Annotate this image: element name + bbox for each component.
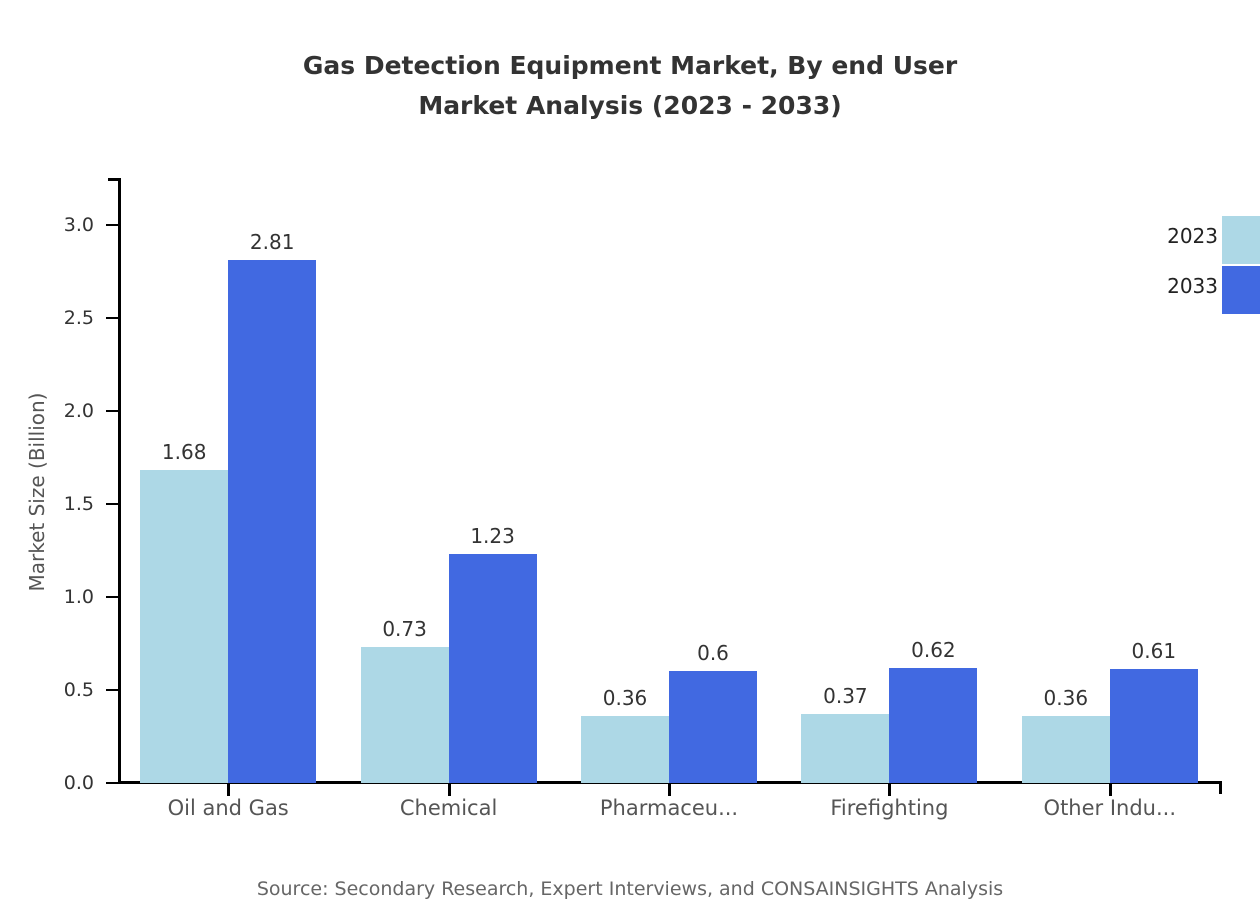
y-axis-tick-label: 3.0 bbox=[24, 214, 94, 236]
y-axis-tick-label: 2.0 bbox=[24, 400, 94, 422]
chart-title: Gas Detection Equipment Market, By end U… bbox=[0, 46, 1260, 126]
x-axis-category-label: Pharmaceu... bbox=[549, 796, 789, 820]
x-axis-tick bbox=[227, 783, 230, 796]
bar-2023[interactable] bbox=[801, 714, 889, 783]
legend-item-2023[interactable]: 2023 bbox=[1136, 222, 1260, 272]
legend-item-2033[interactable]: 2033 bbox=[1136, 272, 1260, 322]
bar-value-label: 0.73 bbox=[345, 617, 465, 641]
bar-value-label: 0.36 bbox=[565, 686, 685, 710]
bar-2023[interactable] bbox=[581, 716, 669, 783]
bar-value-label: 0.37 bbox=[785, 684, 905, 708]
bar-value-label: 0.61 bbox=[1094, 639, 1214, 663]
bar-2023[interactable] bbox=[1022, 716, 1110, 783]
legend-color-swatch bbox=[1222, 216, 1260, 264]
y-axis-tick-label: 0.0 bbox=[24, 772, 94, 794]
chart-title-line-1: Gas Detection Equipment Market, By end U… bbox=[0, 46, 1260, 86]
chart-legend: 20232033 bbox=[1136, 222, 1260, 322]
y-axis-tick-label: 1.5 bbox=[24, 493, 94, 515]
bar-2033[interactable] bbox=[228, 260, 316, 783]
x-axis-tick bbox=[888, 783, 891, 796]
bar-2033[interactable] bbox=[889, 668, 977, 783]
source-note: Source: Secondary Research, Expert Inter… bbox=[0, 878, 1260, 900]
bar-value-label: 1.68 bbox=[124, 440, 244, 464]
y-axis-tick-label: 1.0 bbox=[24, 586, 94, 608]
bar-2023[interactable] bbox=[361, 647, 449, 783]
bar-2033[interactable] bbox=[669, 671, 757, 783]
bar-value-label: 0.36 bbox=[1006, 686, 1126, 710]
x-axis-tick bbox=[1109, 783, 1112, 796]
bar-2023[interactable] bbox=[140, 470, 228, 783]
bar-2033[interactable] bbox=[1110, 669, 1198, 783]
legend-label: 2023 bbox=[1136, 224, 1218, 248]
legend-color-swatch bbox=[1222, 266, 1260, 314]
x-axis-tick bbox=[448, 783, 451, 796]
y-axis-tick-label: 0.5 bbox=[24, 679, 94, 701]
bar-value-label: 2.81 bbox=[212, 230, 332, 254]
x-axis-category-label: Other Indu... bbox=[990, 796, 1230, 820]
bar-value-label: 1.23 bbox=[433, 524, 553, 548]
bar-2033[interactable] bbox=[449, 554, 537, 783]
bar-value-label: 0.6 bbox=[653, 641, 773, 665]
legend-label: 2033 bbox=[1136, 274, 1218, 298]
chart-title-line-2: Market Analysis (2023 - 2033) bbox=[0, 86, 1260, 126]
x-axis-category-label: Firefighting bbox=[769, 796, 1009, 820]
bar-value-label: 0.62 bbox=[873, 638, 993, 662]
x-axis-category-label: Oil and Gas bbox=[108, 796, 348, 820]
plot-area: 1.682.810.731.230.360.60.370.620.360.61 bbox=[118, 178, 1220, 783]
x-axis-category-label: Chemical bbox=[329, 796, 569, 820]
y-axis-tick-label: 2.5 bbox=[24, 307, 94, 329]
x-axis-tick bbox=[668, 783, 671, 796]
